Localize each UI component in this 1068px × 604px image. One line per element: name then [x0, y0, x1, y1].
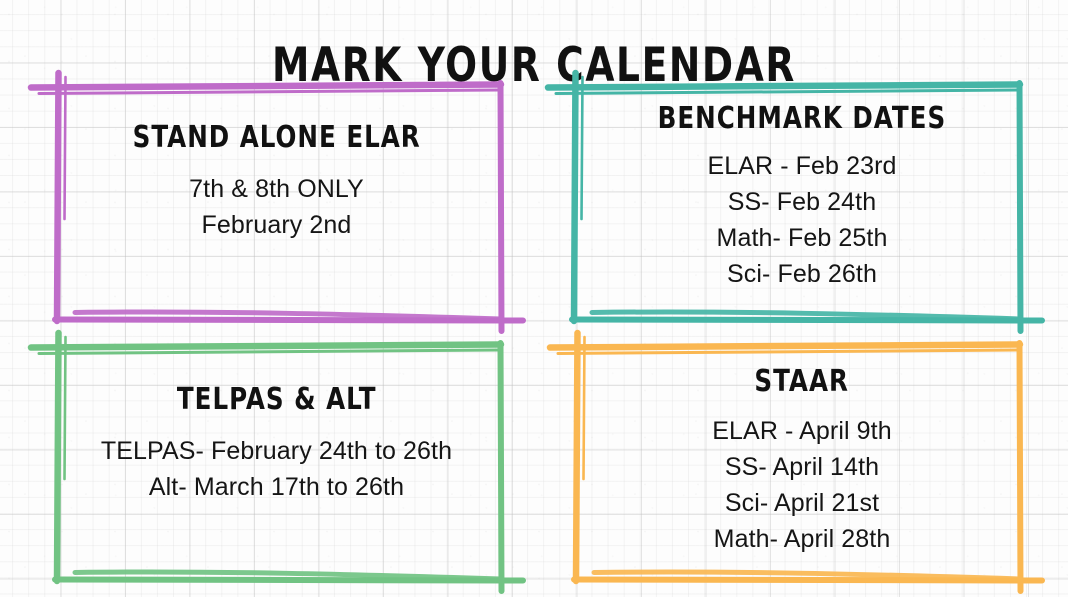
card-stand-alone-elar: STAND ALONE ELAR 7th & 8th ONLY February…	[53, 85, 500, 318]
card-line: Alt- March 17th to 26th	[149, 469, 404, 505]
card-benchmark-dates: BENCHMARK DATES ELAR - Feb 23rd SS- Feb …	[570, 85, 1020, 318]
card-line-list: 7th & 8th ONLY February 2nd	[189, 171, 364, 243]
card-line: ELAR - Feb 23rd	[707, 148, 896, 184]
card-staar: STAAR ELAR - April 9th SS- April 14th Sc…	[572, 345, 1020, 578]
card-telpas-alt: TELPAS & ALT TELPAS- February 24th to 26…	[53, 345, 500, 578]
card-line: TELPAS- February 24th to 26th	[101, 433, 452, 469]
card-heading: BENCHMARK DATES	[658, 102, 946, 136]
card-line-list: ELAR - April 9th SS- April 14th Sci- Apr…	[712, 413, 891, 557]
card-content: STAAR ELAR - April 9th SS- April 14th Sc…	[572, 345, 1020, 578]
card-content: TELPAS & ALT TELPAS- February 24th to 26…	[53, 345, 500, 578]
card-content: STAND ALONE ELAR 7th & 8th ONLY February…	[53, 85, 500, 318]
card-line: Sci- April 21st	[725, 485, 879, 521]
card-line: SS- Feb 24th	[728, 184, 877, 220]
card-line: SS- April 14th	[725, 449, 879, 485]
card-line: Math- Feb 25th	[717, 220, 888, 256]
card-heading: TELPAS & ALT	[177, 383, 377, 417]
calendar-poster: MARK YOUR CALENDAR	[0, 0, 1068, 597]
card-line-list: TELPAS- February 24th to 26th Alt- March…	[101, 433, 452, 505]
card-heading: STAAR	[755, 365, 850, 399]
card-line: Math- April 28th	[714, 521, 891, 557]
card-line-list: ELAR - Feb 23rd SS- Feb 24th Math- Feb 2…	[707, 148, 896, 292]
card-heading: STAND ALONE ELAR	[132, 121, 420, 155]
card-line: ELAR - April 9th	[712, 413, 891, 449]
card-content: BENCHMARK DATES ELAR - Feb 23rd SS- Feb …	[570, 85, 1020, 318]
card-line: February 2nd	[202, 207, 352, 243]
card-line: Sci- Feb 26th	[727, 256, 877, 292]
card-line: 7th & 8th ONLY	[189, 171, 364, 207]
